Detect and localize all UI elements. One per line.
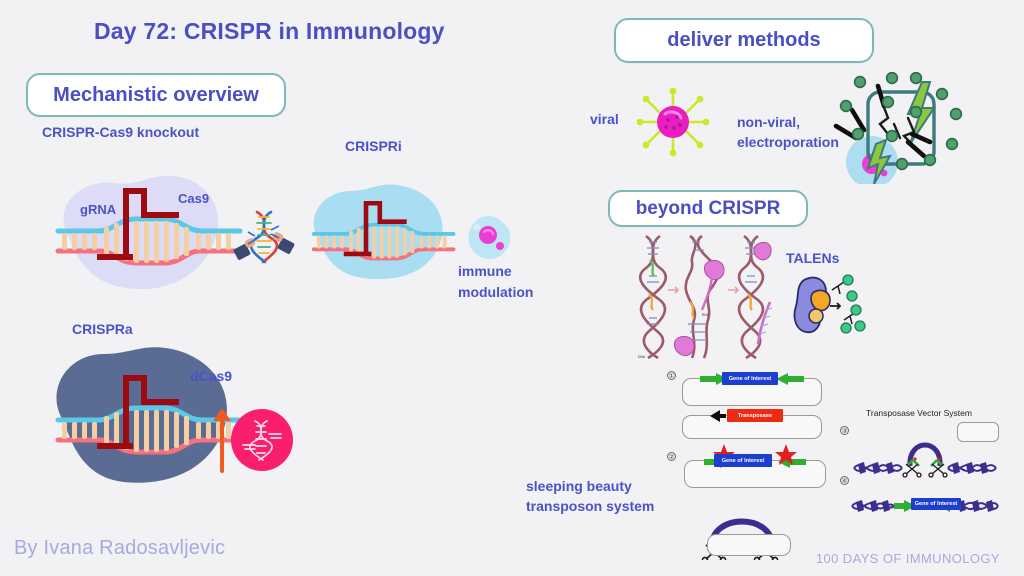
upregulation-arrow-icon <box>211 405 233 473</box>
transposon-gene-tag-3: Gene of Interest <box>911 498 961 510</box>
transposon-step-3-number: ③ <box>840 426 849 435</box>
transposase-vector-system-title: Transposase Vector System <box>866 408 972 418</box>
transposon-gene-tag-2: Gene of Interest <box>714 454 772 467</box>
label-viral: viral <box>590 110 619 128</box>
label-immune-modulation-line1: immune <box>458 262 512 280</box>
dna-rna-editing-diagram: DNA RNA <box>632 232 772 362</box>
label-nonviral-line1: non-viral, <box>737 113 800 131</box>
transposon-step-2-number: ② <box>667 452 676 461</box>
transposase-arrow <box>708 408 728 424</box>
footer-author: By Ivana Radosavljevic <box>14 537 225 560</box>
virus-particle-icon <box>637 86 709 158</box>
dna-expression-badge-icon <box>231 409 293 471</box>
crispri-illustration <box>300 163 465 298</box>
label-talens: TALENs <box>786 249 839 267</box>
label-sleeping-beauty-line1: sleeping beauty <box>526 477 632 495</box>
footer-series: 100 DAYS OF IMMUNOLOGY <box>816 551 1000 566</box>
transposon-step-4-number: ④ <box>840 476 849 485</box>
transposon-plasmid-3 <box>707 534 791 556</box>
talen-protein-icon <box>790 272 870 344</box>
label-sleeping-beauty-line2: transposon system <box>526 497 654 515</box>
transposon-gene-tag-1: Gene of Interest <box>722 372 778 385</box>
rna-caption: RNA <box>702 313 710 317</box>
section-chip-mechanistic-overview[interactable]: Mechanistic overview <box>26 73 286 117</box>
label-grna: gRNA <box>80 202 116 219</box>
dna-caption: DNA <box>638 355 646 359</box>
label-nonviral-line2: electroporation <box>737 133 839 151</box>
label-crispri: CRISPRi <box>345 137 402 155</box>
crispr-cas9-knockout-illustration <box>40 165 255 295</box>
label-immune-modulation-line2: modulation <box>458 283 533 301</box>
electroporation-icon <box>830 72 970 184</box>
dna-editing-scissors-icon <box>233 206 295 268</box>
chip-label: deliver methods <box>667 29 820 52</box>
transposase-tag: Transposase <box>727 409 783 422</box>
chip-label: Mechanistic overview <box>53 84 259 107</box>
section-chip-beyond-crispr[interactable]: beyond CRISPR <box>608 190 808 227</box>
label-cas9: Cas9 <box>178 191 209 208</box>
page-title: Day 72: CRISPR in Immunology <box>94 18 445 45</box>
slide-canvas: Day 72: CRISPR in Immunology Mechanistic… <box>0 0 1024 576</box>
chip-label: beyond CRISPR <box>636 198 781 220</box>
label-crispr-cas9-knockout: CRISPR-Cas9 knockout <box>42 123 199 141</box>
vector-integration-step3 <box>850 420 1000 480</box>
immune-cell-icon <box>464 213 514 263</box>
transposon-step-1-number: ① <box>667 371 676 380</box>
label-dcas9: dCas9 <box>190 367 232 385</box>
label-crispra: CRISPRa <box>72 320 133 338</box>
section-chip-deliver-methods[interactable]: deliver methods <box>614 18 874 63</box>
